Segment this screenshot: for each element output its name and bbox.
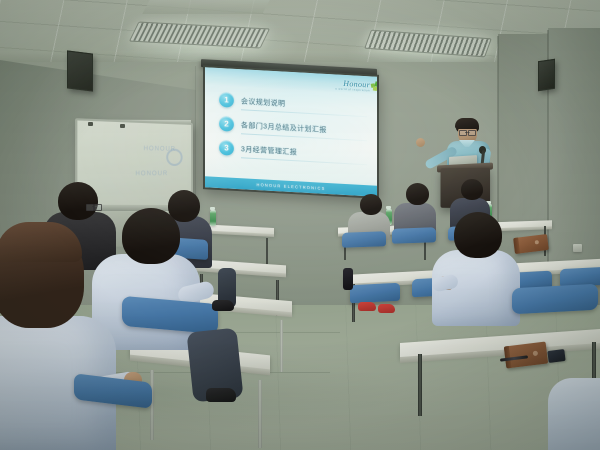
- slide-footer-text: HONOUR ELECTRONICS: [257, 182, 326, 191]
- attendee-glasses-icon: [86, 204, 102, 209]
- agenda-bullet-2: 2: [219, 116, 234, 132]
- smartphone[interactable]: [547, 349, 565, 363]
- presenter-hair-top: [455, 118, 479, 129]
- chair-back-right-1[interactable]: [342, 231, 386, 248]
- presenter-hand: [416, 138, 425, 147]
- presenter-glasses-icon: [459, 130, 476, 134]
- meeting-room-photo: HONOUR HONOUR Honour a world of inspirat…: [0, 0, 600, 450]
- red-sneaker-left: [358, 302, 376, 311]
- slide-agenda-list: 1 会议规划说明 2 各部门3月总结及计划汇报 3 3月经营管理汇报: [219, 92, 369, 172]
- agenda-text-2: 各部门3月总结及计划汇报: [241, 120, 327, 135]
- red-sneaker-right: [378, 304, 395, 313]
- presentation-slide: Honour a world of inspiration 1 会议规划说明 2…: [205, 67, 377, 197]
- ceiling-air-diffuser: [142, 0, 269, 14]
- brand-leaf-icon: [371, 81, 377, 92]
- shoe-dark-1: [206, 388, 236, 402]
- wall-speaker-right-icon: [538, 59, 555, 91]
- water-bottle[interactable]: [210, 210, 216, 226]
- whiteboard-sensor-mid-icon: [120, 124, 125, 128]
- shoe-dark-2: [212, 300, 234, 311]
- agenda-text-1: 会议规划说明: [241, 96, 285, 108]
- whiteboard-sensor-left-icon: [88, 122, 93, 126]
- agenda-bullet-3: 3: [219, 140, 234, 156]
- whiteboard-watermark-icon: [166, 149, 182, 166]
- slide-brand-logo: Honour a world of inspiration: [335, 79, 370, 93]
- chair-back-right-2[interactable]: [392, 227, 436, 244]
- projection-screen: Honour a world of inspiration 1 会议规划说明 2…: [203, 65, 379, 199]
- agenda-bullet-1: 1: [219, 92, 234, 108]
- attendee-leg-dark: [343, 268, 353, 290]
- wall-outlet[interactable]: [573, 244, 582, 252]
- chair-mid-right-1[interactable]: [350, 283, 400, 304]
- wall-speaker-left-icon: [67, 50, 93, 91]
- agenda-text-3: 3月经营管理汇报: [241, 144, 297, 157]
- chair-front-right[interactable]: [512, 284, 598, 315]
